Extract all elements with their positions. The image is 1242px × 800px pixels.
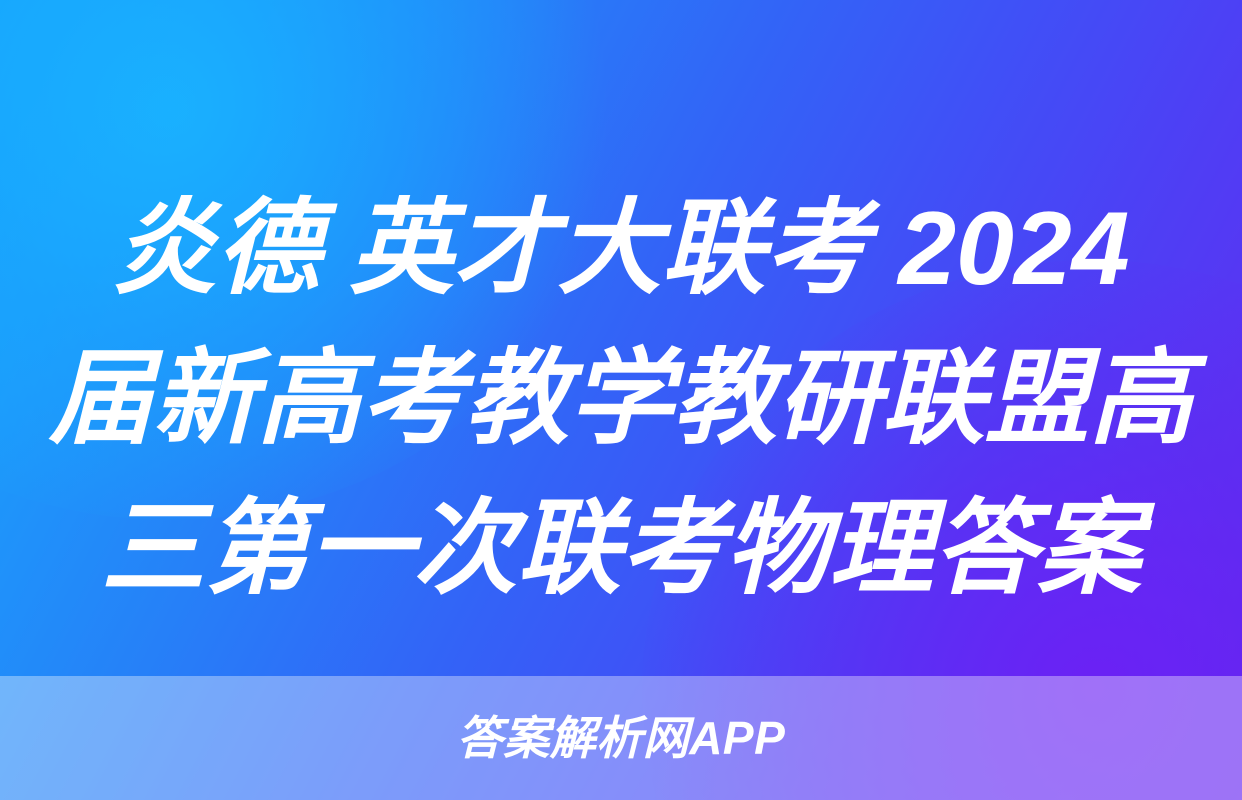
watermark-label: 答案解析网APP [457,715,786,761]
headline-block: 炎德 英才大联考 2024 届新高考教学教研联盟高 三第一次联考物理答案 [0,174,1242,624]
headline-line-1: 炎德 英才大联考 2024 [112,174,1129,324]
gradient-glow-top-left [0,0,620,520]
poster-canvas: 炎德 英才大联考 2024 届新高考教学教研联盟高 三第一次联考物理答案 答案解… [0,0,1242,800]
headline-line-3: 三第一次联考物理答案 [101,474,1141,624]
watermark-band: 答案解析网APP [0,676,1242,800]
headline-line-2: 届新高考教学教研联盟高 [49,324,1193,474]
